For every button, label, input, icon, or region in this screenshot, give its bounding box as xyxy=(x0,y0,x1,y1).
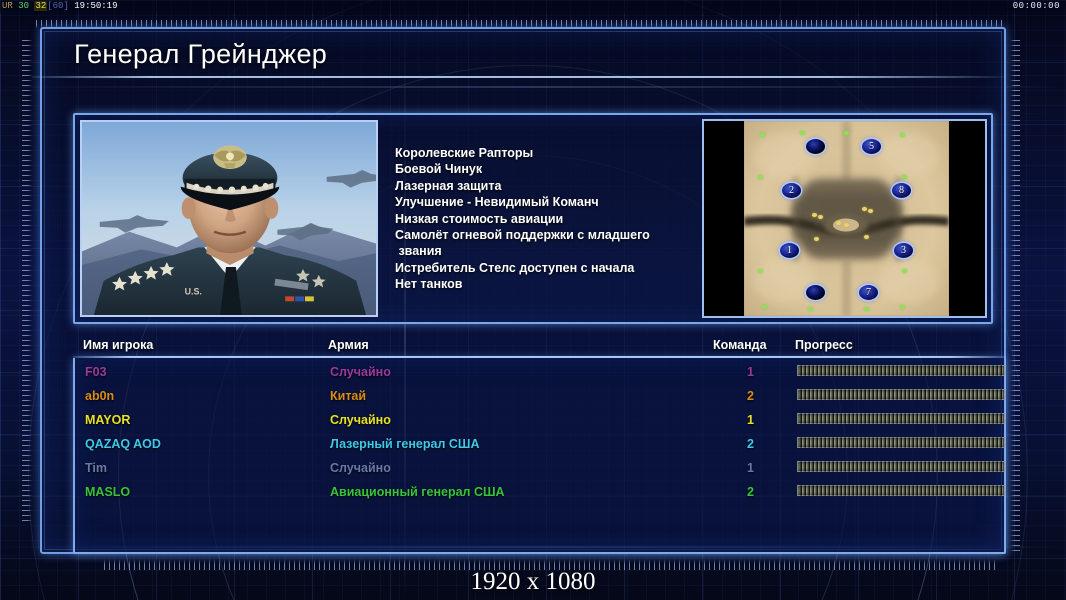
match-timer: 00:00:00 xyxy=(1013,0,1060,13)
table-row[interactable]: MAYORСлучайно1 xyxy=(75,410,1004,434)
player-team: 1 xyxy=(747,365,754,379)
bonus-line: Нет танков xyxy=(395,276,705,292)
table-row[interactable]: MASLOАвиационный генерал США2 xyxy=(75,482,1004,506)
player-name: MASLO xyxy=(85,485,130,499)
player-list-panel: F03Случайно1ab0nКитай2MAYORСлучайно1QAZA… xyxy=(73,358,1006,554)
map-start-position[interactable]: 2 xyxy=(782,183,801,198)
map-start-position[interactable]: 7 xyxy=(859,285,878,300)
player-name: MAYOR xyxy=(85,413,130,427)
map-resource-marker xyxy=(900,305,905,309)
ruler-left xyxy=(22,40,32,522)
player-progress-bar xyxy=(797,461,1005,472)
svg-text:U.S.: U.S. xyxy=(185,286,202,296)
bonus-line: Королевские Рапторы xyxy=(395,145,705,161)
map-resource-marker xyxy=(864,235,869,239)
player-team: 1 xyxy=(747,413,754,427)
map-resource-marker xyxy=(758,175,763,179)
player-team: 1 xyxy=(747,461,754,475)
general-portrait-image: U.S. xyxy=(82,122,376,315)
map-resource-marker xyxy=(902,175,907,179)
map-resource-marker xyxy=(758,269,763,273)
map-resource-marker xyxy=(900,133,905,137)
map-resource-marker xyxy=(818,215,823,219)
map-resource-marker xyxy=(864,307,869,311)
bonus-line: звания xyxy=(395,243,705,259)
player-army: Лазерный генерал США xyxy=(330,437,479,451)
bonus-line: Лазерная защита xyxy=(395,178,705,194)
map-resource-marker xyxy=(814,237,819,241)
column-header-player-name: Имя игрока xyxy=(83,338,153,352)
title-separator xyxy=(32,76,1006,78)
title-bar: Генерал Грейнджер xyxy=(42,30,942,78)
player-army: Случайно xyxy=(330,365,391,379)
general-portrait: U.S. xyxy=(80,120,378,317)
table-row[interactable]: ab0nКитай2 xyxy=(75,386,1004,410)
ruler-right xyxy=(1010,40,1020,552)
player-name: QAZAQ AOD xyxy=(85,437,161,451)
map-preview-image xyxy=(744,121,949,316)
netstat-value-2: 32 xyxy=(34,1,47,11)
map-start-position[interactable]: 3 xyxy=(894,243,913,258)
player-army: Китай xyxy=(330,389,366,403)
page-title: Генерал Грейнджер xyxy=(42,39,327,70)
player-name: Tim xyxy=(85,461,107,475)
bonus-line: Улучшение - Невидимый Команч xyxy=(395,194,705,210)
map-resource-marker xyxy=(836,221,841,225)
table-row[interactable]: F03Случайно1 xyxy=(75,362,1004,386)
column-header-team: Команда xyxy=(713,338,767,352)
general-bonus-list: Королевские Рапторы Боевой Чинук Лазерна… xyxy=(395,145,705,293)
map-resource-marker xyxy=(800,131,805,135)
map-resource-marker xyxy=(760,133,765,137)
player-name: ab0n xyxy=(85,389,114,403)
resolution-label: 1920 x 1080 xyxy=(0,568,1066,596)
player-progress-bar xyxy=(797,485,1005,496)
player-progress-bar xyxy=(797,389,1005,400)
table-row[interactable]: TimСлучайно1 xyxy=(75,458,1004,482)
map-resource-marker xyxy=(844,131,849,135)
bonus-line: Истребитель Стелс доступен с начала xyxy=(395,260,705,276)
map-resource-marker xyxy=(902,269,907,273)
player-team: 2 xyxy=(747,389,754,403)
map-start-position[interactable] xyxy=(806,139,825,154)
network-stats: UR 30 32[60] 19:50:19 xyxy=(2,0,117,13)
map-start-position[interactable]: 5 xyxy=(862,139,881,154)
netstat-prefix: UR xyxy=(2,1,13,11)
general-info-panel: U.S. Королевские Рапторы Боевой Чинук Ла… xyxy=(73,113,993,324)
player-army: Случайно xyxy=(330,413,391,427)
bonus-line: Самолёт огневой поддержки с младшего xyxy=(395,227,705,243)
player-table-header: Имя игрока Армия Команда Прогресс xyxy=(73,338,1006,358)
netstat-value-1: 30 xyxy=(18,1,29,11)
player-army: Случайно xyxy=(330,461,391,475)
map-terrain xyxy=(744,121,949,316)
map-preview[interactable]: 528137 xyxy=(702,119,987,318)
bonus-line: Боевой Чинук xyxy=(395,161,705,177)
map-resource-marker xyxy=(868,209,873,213)
map-resource-marker xyxy=(844,223,849,227)
column-header-progress: Прогресс xyxy=(795,338,853,352)
map-start-position[interactable] xyxy=(806,285,825,300)
table-row[interactable]: QAZAQ AODЛазерный генерал США2 xyxy=(75,434,1004,458)
player-team: 2 xyxy=(747,485,754,499)
bonus-line: Низкая стоимость авиации xyxy=(395,211,705,227)
player-progress-bar xyxy=(797,413,1005,424)
map-resource-marker xyxy=(808,307,813,311)
top-status-bar: UR 30 32[60] 19:50:19 00:00:00 xyxy=(0,0,1066,13)
map-resource-marker xyxy=(762,305,767,309)
player-progress-bar xyxy=(797,365,1005,376)
player-army: Авиационный генерал США xyxy=(330,485,505,499)
column-header-army: Армия xyxy=(328,338,369,352)
player-rows: F03Случайно1ab0nКитай2MAYORСлучайно1QAZA… xyxy=(75,362,1004,506)
player-team: 2 xyxy=(747,437,754,451)
netstat-clock: 19:50:19 xyxy=(74,1,117,11)
map-start-position[interactable]: 8 xyxy=(892,183,911,198)
player-name: F03 xyxy=(85,365,107,379)
map-resource-marker xyxy=(862,207,867,211)
netstat-bracket: [60] xyxy=(47,1,69,11)
map-start-position[interactable]: 1 xyxy=(780,243,799,258)
map-resource-marker xyxy=(812,213,817,217)
player-progress-bar xyxy=(797,437,1005,448)
